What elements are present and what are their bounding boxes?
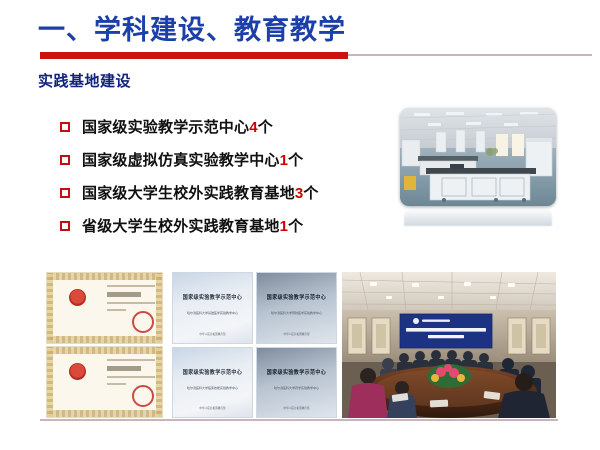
- national-emblem-icon: [69, 289, 86, 306]
- national-emblem-icon: [69, 363, 86, 380]
- conference-room-photo: [342, 272, 556, 418]
- page-title: 一、学科建设、教育教学: [38, 14, 578, 46]
- red-official-seal-icon: [132, 311, 154, 333]
- list-item: 国家级大学生校外实践教育基地3个: [60, 176, 390, 209]
- title-underline: [40, 51, 592, 61]
- plaque-issuer: 中华人民共和国教育部: [179, 406, 246, 410]
- hollow-square-icon: [60, 122, 70, 132]
- plaque-3: 国家级实验教学示范中心 哈尔滨医科大学临床技能实验教学中心 中华人民共和国教育部: [172, 347, 253, 419]
- plaque-title: 国家级实验教学示范中心: [261, 369, 332, 376]
- list-item-count: 4: [249, 119, 258, 136]
- list-item-count: 1: [280, 152, 289, 169]
- red-official-seal-icon: [132, 385, 154, 407]
- ornament-top: [47, 273, 162, 280]
- bottom-divider: [40, 419, 558, 421]
- laboratory-photo-reflection: [404, 208, 552, 226]
- bullet-list: 国家级实验教学示范中心4个 国家级虚拟仿真实验教学中心1个 国家级大学生校外实践…: [60, 110, 390, 242]
- plaque-title: 国家级实验教学示范中心: [177, 369, 248, 376]
- list-item: 国家级实验教学示范中心4个: [60, 110, 390, 143]
- plaque-1: 国家级实验教学示范中心 哈尔滨医科大学基础医学实验教学中心 中华人民共和国教育部: [172, 272, 253, 344]
- section-subtitle: 实践基地建设: [38, 70, 131, 91]
- list-item-label: 国家级虚拟仿真实验教学中心1个: [82, 149, 303, 170]
- ornament-bottom: [47, 336, 162, 343]
- plaques-group: 国家级实验教学示范中心 哈尔滨医科大学基础医学实验教学中心 中华人民共和国教育部…: [172, 272, 337, 418]
- plaque-2: 国家级实验教学示范中心 哈尔滨医科大学预防医学实验教学中心 中华人民共和国教育部: [256, 272, 337, 344]
- certificate-bottom: [46, 346, 163, 418]
- list-item: 国家级虚拟仿真实验教学中心1个: [60, 143, 390, 176]
- ornament-left: [47, 273, 53, 343]
- laboratory-interior-photo: [400, 108, 556, 206]
- certificate-top: [46, 272, 163, 344]
- hollow-square-icon: [60, 221, 70, 231]
- list-item-label: 国家级实验教学示范中心4个: [82, 116, 273, 137]
- list-item-label: 国家级大学生校外实践教育基地3个: [82, 182, 319, 203]
- plaque-issuer: 中华人民共和国教育部: [263, 406, 330, 410]
- plaque-subtitle: 哈尔滨医科大学基础医学实验教学中心: [179, 311, 246, 315]
- certificates-group: [46, 272, 163, 418]
- plaque-title: 国家级实验教学示范中心: [261, 295, 332, 302]
- title-block: 一、学科建设、教育教学: [38, 14, 578, 60]
- hollow-square-icon: [60, 155, 70, 165]
- ornament-right: [156, 273, 162, 343]
- ornament-bottom: [47, 410, 162, 417]
- plaque-title: 国家级实验教学示范中心: [177, 295, 248, 302]
- ornament-left: [47, 347, 53, 417]
- list-item-count: 1: [280, 218, 289, 235]
- slide-canvas: 一、学科建设、教育教学 实践基地建设 国家级实验教学示范中心4个 国家级虚拟仿真…: [0, 0, 600, 450]
- ornament-right: [156, 347, 162, 417]
- list-item-label: 省级大学生校外实践教育基地1个: [82, 215, 303, 236]
- plaque-issuer: 中华人民共和国教育部: [263, 332, 330, 336]
- plaque-subtitle: 哈尔滨医科大学临床技能实验教学中心: [179, 386, 246, 390]
- hollow-square-icon: [60, 188, 70, 198]
- ornament-top: [47, 347, 162, 354]
- plaque-issuer: 中华人民共和国教育部: [179, 332, 246, 336]
- plaque-subtitle: 哈尔滨医科大学药学实验教学中心: [263, 386, 330, 390]
- title-rule-red: [40, 52, 348, 59]
- list-item: 省级大学生校外实践教育基地1个: [60, 209, 390, 242]
- plaque-4: 国家级实验教学示范中心 哈尔滨医科大学药学实验教学中心 中华人民共和国教育部: [256, 347, 337, 419]
- plaque-subtitle: 哈尔滨医科大学预防医学实验教学中心: [263, 311, 330, 315]
